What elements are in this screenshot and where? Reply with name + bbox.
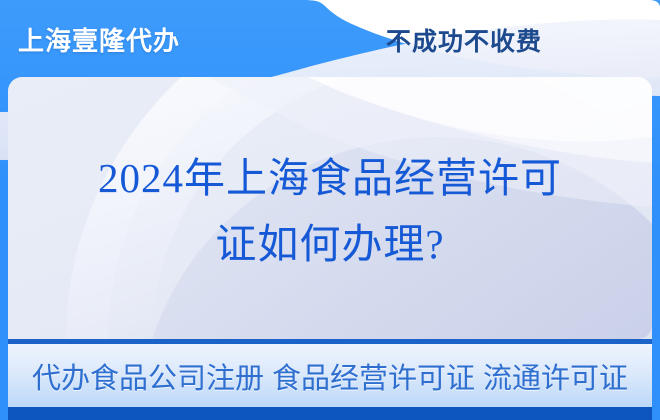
title-block: 2024年上海食品经营许可 证如何办理? — [8, 77, 652, 339]
title-line-1: 2024年上海食品经营许可 — [98, 145, 562, 211]
bottom-edge-accent — [8, 413, 652, 420]
brand-name: 上海壹隆代办 — [18, 21, 180, 58]
main-card: 2024年上海食品经营许可 证如何办理? — [8, 77, 652, 339]
header-band: 上海壹隆代办 不成功不收费 — [0, 0, 660, 80]
poster-root: 2024年上海食品经营许可 证如何办理? 上海壹隆代办 不成功不收费 代办食品公… — [0, 0, 660, 420]
keyword-list: 代办食品公司注册 食品经营许可证 流通许可证 — [32, 355, 628, 397]
keyword-bar: 代办食品公司注册 食品经营许可证 流通许可证 — [8, 339, 652, 413]
title-line-2: 证如何办理? — [215, 211, 444, 277]
slogan-text: 不成功不收费 — [386, 22, 542, 58]
